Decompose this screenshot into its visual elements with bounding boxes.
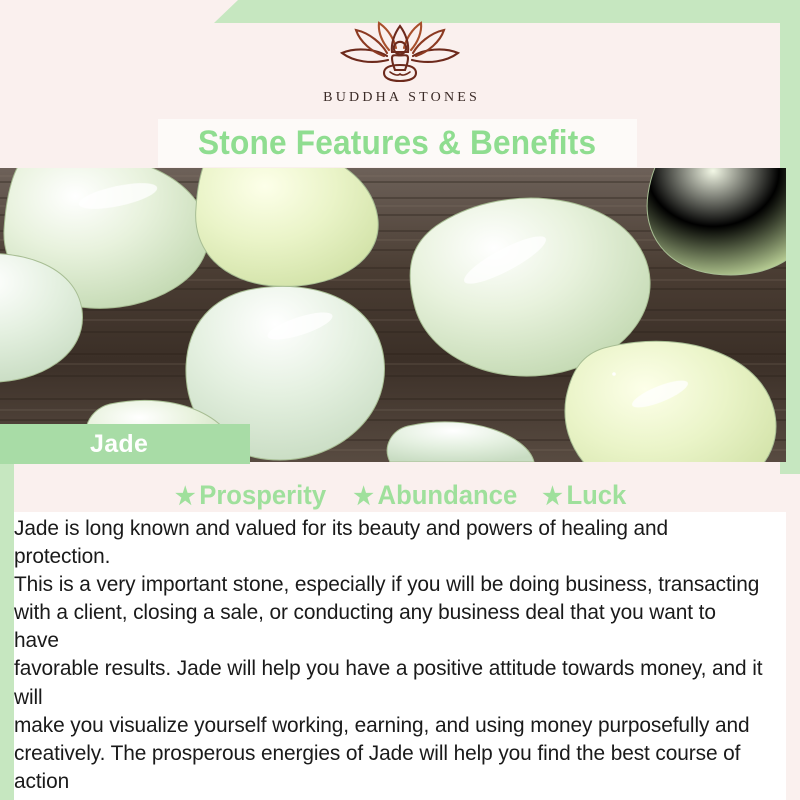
stone-info-card: BUDDHA STONES xyxy=(0,0,800,800)
benefit-label: Abundance xyxy=(378,480,518,510)
brand-logo: BUDDHA STONES xyxy=(0,20,800,106)
page-title: Stone Features & Benefits xyxy=(198,126,596,160)
benefit-item-prosperity: ★Prosperity xyxy=(175,480,326,511)
stone-name: Jade xyxy=(90,430,148,459)
benefit-label: Prosperity xyxy=(200,480,327,510)
description-line: Jade is long known and valued for its be… xyxy=(14,514,763,570)
benefit-label: Luck xyxy=(566,480,626,510)
benefits-row: ★Prosperity ★Abundance ★Luck xyxy=(0,480,800,511)
description-line: on matters that involve your finances an… xyxy=(14,795,763,800)
description-line: make you visualize yourself working, ear… xyxy=(14,711,763,739)
benefit-item-luck: ★Luck xyxy=(542,480,626,511)
description-line: with a client, closing a sale, or conduc… xyxy=(14,598,763,654)
description-line: creatively. The prosperous energies of J… xyxy=(14,739,763,795)
stone-name-band: Jade xyxy=(0,424,250,464)
section-title-banner: Stone Features & Benefits xyxy=(158,119,637,167)
benefit-item-abundance: ★Abundance xyxy=(353,480,517,511)
star-icon: ★ xyxy=(542,483,562,510)
hero-image xyxy=(0,168,786,462)
lotus-meditation-icon xyxy=(326,20,474,86)
stone-description: Jade is long known and valued for its be… xyxy=(14,512,786,800)
star-icon: ★ xyxy=(175,483,195,510)
jade-stones-illustration xyxy=(0,168,786,462)
description-line: This is a very important stone, especial… xyxy=(14,570,763,598)
brand-name: BUDDHA STONES xyxy=(0,90,800,106)
description-line: favorable results. Jade will help you ha… xyxy=(14,654,763,710)
star-icon: ★ xyxy=(353,483,373,510)
